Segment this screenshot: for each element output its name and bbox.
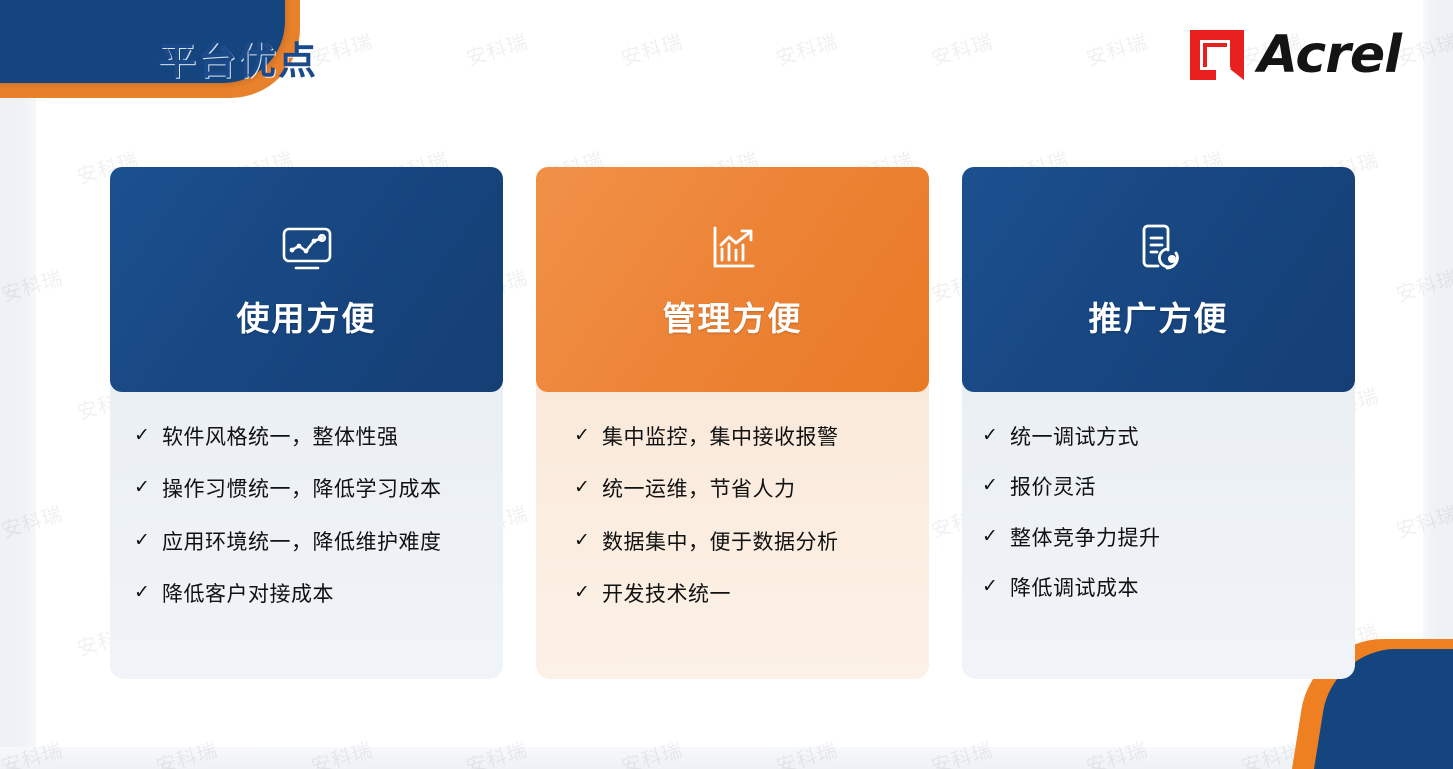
page-title: 平台优点: [158, 30, 318, 85]
list-item-label: 应用环境统一，降低维护难度: [162, 529, 442, 555]
check-icon: ✓: [982, 525, 998, 548]
check-icon: ✓: [982, 474, 998, 497]
feature-card-ease-of-management[interactable]: 管理方便 ✓ 集中监控，集中接收报警 ✓ 统一运维，节省人力 ✓ 数据集中，便于…: [536, 167, 929, 679]
watermark-text: 安科瑞: [927, 25, 996, 71]
feature-card-row: 使用方便 ✓ 软件风格统一，整体性强 ✓ 操作习惯统一，降低学习成本 ✓ 应用环…: [110, 167, 1355, 679]
check-icon: ✓: [134, 581, 150, 604]
list-item: ✓ 应用环境统一，降低维护难度: [134, 529, 491, 555]
list-item-label: 操作习惯统一，降低学习成本: [162, 476, 442, 502]
list-item: ✓ 操作习惯统一，降低学习成本: [134, 476, 491, 502]
watermark-text: 安科瑞: [617, 25, 686, 71]
card-body-ease-of-promotion: ✓ 统一调试方式 ✓ 报价灵活 ✓ 整体竞争力提升 ✓ 降低调试成本: [962, 384, 1355, 679]
list-item-label: 报价灵活: [1010, 474, 1096, 500]
list-item-label: 统一调试方式: [1010, 424, 1139, 450]
card-body-ease-of-use: ✓ 软件风格统一，整体性强 ✓ 操作习惯统一，降低学习成本 ✓ 应用环境统一，降…: [110, 384, 503, 679]
check-icon: ✓: [982, 424, 998, 447]
bar-chart-trend-up-icon: [705, 220, 761, 276]
list-item: ✓ 数据集中，便于数据分析: [574, 529, 917, 555]
list-item: ✓ 降低调试成本: [982, 575, 1343, 601]
list-item-label: 开发技术统一: [602, 581, 731, 607]
list-item-label: 统一运维，节省人力: [602, 476, 796, 502]
check-icon: ✓: [134, 529, 150, 552]
list-item-label: 降低调试成本: [1010, 575, 1139, 601]
list-item: ✓ 集中监控，集中接收报警: [574, 424, 917, 450]
check-icon: ✓: [574, 476, 590, 499]
list-item: ✓ 统一调试方式: [982, 424, 1343, 450]
check-icon: ✓: [134, 476, 150, 499]
watermark-text: 安科瑞: [1082, 25, 1151, 71]
bullet-list-ease-of-management: ✓ 集中监控，集中接收报警 ✓ 统一运维，节省人力 ✓ 数据集中，便于数据分析 …: [536, 424, 929, 607]
feature-card-ease-of-promotion[interactable]: 推广方便 ✓ 统一调试方式 ✓ 报价灵活 ✓ 整体竞争力提升: [962, 167, 1355, 679]
card-title-ease-of-promotion: 推广方便: [1089, 292, 1229, 340]
card-title-ease-of-management: 管理方便: [663, 292, 803, 340]
list-item: ✓ 降低客户对接成本: [134, 581, 491, 607]
card-header-ease-of-management: 管理方便: [536, 167, 929, 392]
card-title-ease-of-use: 使用方便: [237, 292, 377, 340]
list-item: ✓ 报价灵活: [982, 474, 1343, 500]
list-item-label: 降低客户对接成本: [162, 581, 334, 607]
document-settings-icon: [1131, 220, 1187, 276]
list-item: ✓ 整体竞争力提升: [982, 525, 1343, 551]
card-header-ease-of-promotion: 推广方便: [962, 167, 1355, 392]
slide-canvas: 安科瑞安科瑞安科瑞安科瑞安科瑞安科瑞安科瑞安科瑞安科瑞安科瑞安科瑞安科瑞安科瑞安…: [0, 0, 1453, 769]
list-item-label: 数据集中，便于数据分析: [602, 529, 839, 555]
check-icon: ✓: [982, 575, 998, 598]
bullet-list-ease-of-use: ✓ 软件风格统一，整体性强 ✓ 操作习惯统一，降低学习成本 ✓ 应用环境统一，降…: [110, 424, 503, 607]
list-item: ✓ 开发技术统一: [574, 581, 917, 607]
bullet-list-ease-of-promotion: ✓ 统一调试方式 ✓ 报价灵活 ✓ 整体竞争力提升 ✓ 降低调试成本: [962, 424, 1355, 601]
card-header-ease-of-use: 使用方便: [110, 167, 503, 392]
watermark-text: 安科瑞: [462, 25, 531, 71]
list-item: ✓ 统一运维，节省人力: [574, 476, 917, 502]
list-item: ✓ 软件风格统一，整体性强: [134, 424, 491, 450]
feature-card-ease-of-use[interactable]: 使用方便 ✓ 软件风格统一，整体性强 ✓ 操作习惯统一，降低学习成本 ✓ 应用环…: [110, 167, 503, 679]
watermark-text: 安科瑞: [772, 25, 841, 71]
list-item-label: 集中监控，集中接收报警: [602, 424, 839, 450]
list-item-label: 整体竞争力提升: [1010, 525, 1161, 551]
check-icon: ✓: [574, 581, 590, 604]
bottom-edge-band: [0, 747, 1453, 769]
left-edge-band: [0, 0, 36, 769]
brand-logo: Acrel: [1186, 24, 1401, 86]
check-icon: ✓: [574, 529, 590, 552]
brand-name: Acrel: [1258, 29, 1401, 81]
list-item-label: 软件风格统一，整体性强: [162, 424, 399, 450]
card-body-ease-of-management: ✓ 集中监控，集中接收报警 ✓ 统一运维，节省人力 ✓ 数据集中，便于数据分析 …: [536, 384, 929, 679]
check-icon: ✓: [574, 424, 590, 447]
monitor-line-chart-icon: [279, 220, 335, 276]
check-icon: ✓: [134, 424, 150, 447]
acrel-logo-mark-icon: [1186, 24, 1248, 86]
